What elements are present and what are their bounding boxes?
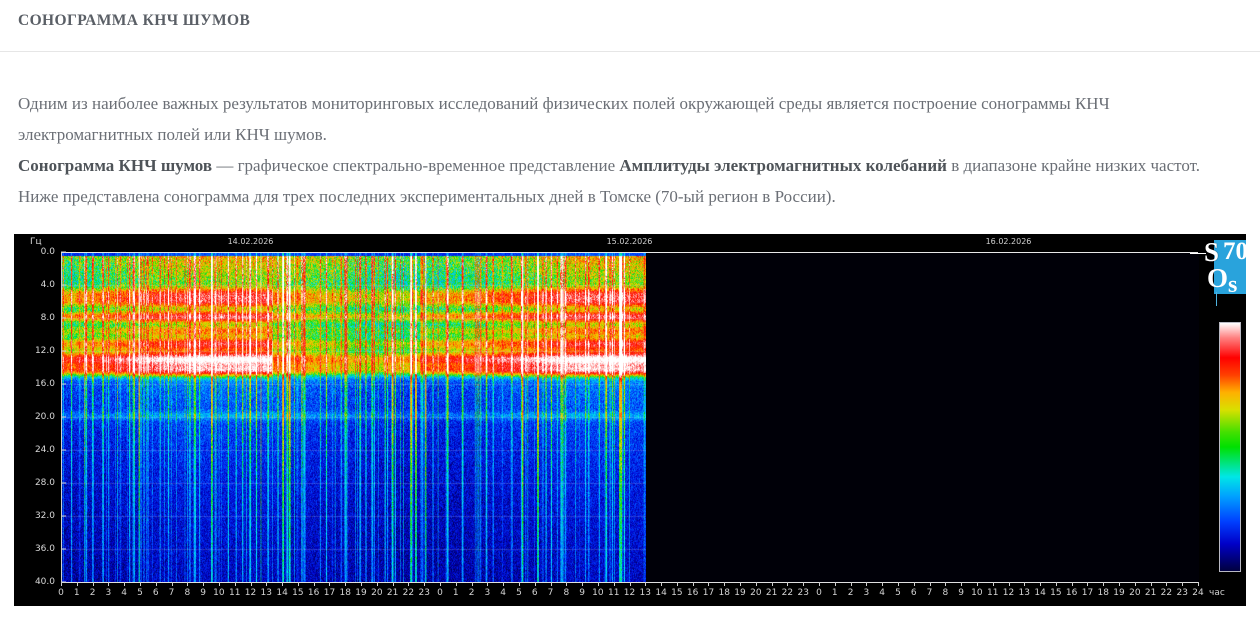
x-tick-mark [377,582,378,586]
x-tick-mark [1009,582,1010,586]
x-tick-label: 15 [1050,588,1061,598]
x-tick-mark [803,582,804,586]
x-tick-label: 9 [958,588,964,598]
x-tick-label: 23 [418,588,429,598]
x-tick-mark [172,582,173,586]
x-tick-label: 13 [1019,588,1030,598]
x-tick-label: 18 [340,588,351,598]
y-axis-unit-label: Гц [30,237,42,247]
x-tick-mark [187,582,188,586]
spectrogram-data [62,252,646,582]
x-tick-mark [582,582,583,586]
x-tick-mark [1151,582,1152,586]
x-tick-mark [756,582,757,586]
x-tick-mark [503,582,504,586]
x-tick-label: 16 [1066,588,1077,598]
date-label: 16.02.2026 [986,237,1032,246]
x-tick-mark [61,582,62,586]
x-tick-label: 0 [58,588,64,598]
x-tick-label: 12 [624,588,635,598]
x-tick-label: 21 [387,588,398,598]
x-tick-label: 19 [1113,588,1124,598]
y-tick-label: 12.0 [35,346,55,356]
x-tick-label: 11 [229,588,240,598]
y-tick-mark [61,351,66,352]
x-tick-label: 1 [453,588,459,598]
x-tick-mark [661,582,662,586]
x-tick-mark [298,582,299,586]
x-tick-mark [945,582,946,586]
x-tick-mark [930,582,931,586]
sos70-logo: 70 S O s [1202,238,1246,300]
x-tick-label: 17 [703,588,714,598]
x-tick-mark [266,582,267,586]
x-tick-label: 6 [911,588,917,598]
x-tick-mark [882,582,883,586]
x-tick-mark [456,582,457,586]
x-tick-label: 9 [200,588,206,598]
colorbar [1219,322,1241,572]
x-tick-mark [77,582,78,586]
x-tick-mark [1198,582,1199,586]
article-paragraph-2-mid: — графическое спектрально-временное пред… [212,156,619,175]
x-tick-label: 3 [864,588,870,598]
x-tick-mark [487,582,488,586]
x-tick-mark [124,582,125,586]
x-tick-mark [472,582,473,586]
date-band: 14.02.202615.02.202616.02.2026 [61,234,1246,252]
x-tick-label: 7 [927,588,933,598]
article-paragraph-1: Одним из наиболее важных результатов мон… [18,88,1242,150]
x-tick-mark [440,582,441,586]
x-tick-mark [740,582,741,586]
logo-number: 70 [1223,239,1246,264]
x-tick-label: 20 [1129,588,1140,598]
x-tick-label: 5 [516,588,522,598]
x-tick-mark [851,582,852,586]
article-paragraph-2-end: в диапазоне крайне низких частот. [947,156,1200,175]
logo-rule-vertical [1216,292,1217,306]
x-tick-mark [645,582,646,586]
y-tick-mark [61,384,66,385]
x-axis: час 012345678910111213141516171819202122… [61,582,1246,606]
y-tick-mark [61,549,66,550]
x-tick-mark [614,582,615,586]
x-tick-label: 14 [276,588,287,598]
x-tick-label: 22 [782,588,793,598]
x-tick-mark [1166,582,1167,586]
y-tick-mark [61,483,66,484]
x-tick-label: 5 [137,588,143,598]
x-tick-label: 23 [1176,588,1187,598]
date-label: 15.02.2026 [607,237,653,246]
x-tick-mark [251,582,252,586]
y-tick-label: 28.0 [35,478,55,488]
x-tick-mark [1119,582,1120,586]
x-tick-mark [108,582,109,586]
x-tick-mark [708,582,709,586]
x-tick-mark [140,582,141,586]
x-tick-label: 1 [74,588,80,598]
x-tick-mark [282,582,283,586]
sonogram-figure: Гц 0.04.08.012.016.020.024.028.032.036.0… [14,234,1246,606]
x-tick-label: 18 [1098,588,1109,598]
x-tick-label: 10 [213,588,224,598]
x-tick-mark [203,582,204,586]
x-tick-mark [787,582,788,586]
x-tick-label: 21 [766,588,777,598]
y-tick-label: 40.0 [35,577,55,587]
x-tick-label: 0 [816,588,822,598]
x-tick-label: 4 [879,588,885,598]
x-tick-label: 2 [848,588,854,598]
x-tick-mark [1056,582,1057,586]
x-tick-mark [914,582,915,586]
y-tick-label: 20.0 [35,412,55,422]
x-tick-label: 17 [324,588,335,598]
x-tick-mark [993,582,994,586]
x-tick-mark [566,582,567,586]
x-tick-mark [630,582,631,586]
x-tick-mark [866,582,867,586]
x-tick-label: 4 [121,588,127,598]
page-header: СОНОГРАММА КНЧ ШУМОВ [0,0,1260,52]
x-tick-mark [772,582,773,586]
x-tick-label: 5 [895,588,901,598]
x-tick-mark [219,582,220,586]
x-tick-label: 15 [292,588,303,598]
x-tick-mark [1087,582,1088,586]
x-tick-mark [1182,582,1183,586]
x-tick-label: 13 [261,588,272,598]
plot-top-rule [61,252,1198,253]
x-tick-label: 20 [750,588,761,598]
x-tick-mark [329,582,330,586]
term-amplitude: Амплитуды электромагнитных колебаний [619,156,947,175]
logo-letter-s-bottom: s [1228,273,1237,297]
y-tick-mark [61,582,66,583]
x-tick-label: 16 [308,588,319,598]
x-tick-mark [393,582,394,586]
y-tick-mark [61,450,66,451]
x-tick-label: 1 [832,588,838,598]
x-tick-mark [961,582,962,586]
x-tick-mark [345,582,346,586]
x-tick-label: 6 [532,588,538,598]
x-tick-label: 20 [371,588,382,598]
x-tick-label: 2 [469,588,475,598]
term-sonogram: Сонограмма КНЧ шумов [18,156,212,175]
x-axis-unit-label: час [1209,588,1225,598]
x-tick-label: 7 [548,588,554,598]
y-tick-mark [61,252,66,253]
x-tick-mark [156,582,157,586]
x-tick-label: 4 [500,588,506,598]
y-tick-mark [61,318,66,319]
x-tick-mark [898,582,899,586]
x-tick-label: 18 [719,588,730,598]
x-tick-label: 12 [1003,588,1014,598]
x-tick-label: 15 [671,588,682,598]
y-tick-label: 4.0 [41,280,55,290]
x-tick-mark [693,582,694,586]
x-tick-mark [93,582,94,586]
x-tick-label: 17 [1082,588,1093,598]
x-tick-label: 22 [1161,588,1172,598]
x-tick-mark [408,582,409,586]
x-tick-mark [235,582,236,586]
y-tick-mark [61,516,66,517]
y-tick-label: 0.0 [41,247,55,257]
x-tick-label: 21 [1145,588,1156,598]
x-tick-mark [598,582,599,586]
x-tick-mark [314,582,315,586]
x-tick-mark [1135,582,1136,586]
x-tick-mark [551,582,552,586]
x-tick-mark [1072,582,1073,586]
x-tick-label: 23 [797,588,808,598]
x-tick-label: 12 [245,588,256,598]
x-tick-label: 22 [403,588,414,598]
x-tick-label: 3 [106,588,112,598]
y-tick-label: 36.0 [35,544,55,554]
x-tick-label: 14 [655,588,666,598]
x-tick-mark [519,582,520,586]
x-tick-label: 9 [579,588,585,598]
x-tick-mark [1024,582,1025,586]
x-tick-mark [535,582,536,586]
article-paragraph-3: Ниже представлена сонограмма для трех по… [18,181,1242,212]
x-tick-label: 0 [437,588,443,598]
x-tick-label: 3 [485,588,491,598]
date-label: 14.02.2026 [228,237,274,246]
x-tick-mark [1103,582,1104,586]
x-tick-label: 2 [90,588,96,598]
x-tick-mark [1040,582,1041,586]
x-tick-mark [819,582,820,586]
y-tick-label: 8.0 [41,313,55,323]
x-tick-mark [724,582,725,586]
x-tick-label: 8 [184,588,190,598]
x-tick-mark [677,582,678,586]
x-tick-label: 8 [942,588,948,598]
x-tick-label: 19 [355,588,366,598]
x-tick-label: 8 [563,588,569,598]
x-tick-label: 10 [971,588,982,598]
x-tick-mark [977,582,978,586]
x-tick-label: 10 [592,588,603,598]
article-body: Одним из наиболее важных результатов мон… [0,52,1260,212]
y-tick-label: 32.0 [35,511,55,521]
y-tick-label: 16.0 [35,379,55,389]
spectrogram-plot [61,252,1199,582]
logo-letter-s-top: S [1204,239,1219,266]
article-paragraph-2: Сонограмма КНЧ шумов — графическое спект… [18,150,1242,181]
logo-letter-o: O [1207,265,1228,292]
y-tick-mark [61,285,66,286]
x-tick-mark [424,582,425,586]
x-tick-label: 6 [153,588,159,598]
x-tick-label: 11 [608,588,619,598]
x-tick-label: 19 [734,588,745,598]
x-tick-label: 13 [640,588,651,598]
x-tick-label: 24 [1192,588,1203,598]
page-title: СОНОГРАММА КНЧ ШУМОВ [18,12,1260,30]
x-tick-label: 14 [1034,588,1045,598]
x-tick-mark [361,582,362,586]
x-tick-label: 11 [987,588,998,598]
y-tick-mark [61,417,66,418]
y-tick-label: 24.0 [35,445,55,455]
x-tick-label: 7 [169,588,175,598]
x-tick-mark [835,582,836,586]
y-axis: Гц 0.04.08.012.016.020.024.028.032.036.0… [14,234,61,606]
x-tick-label: 16 [687,588,698,598]
